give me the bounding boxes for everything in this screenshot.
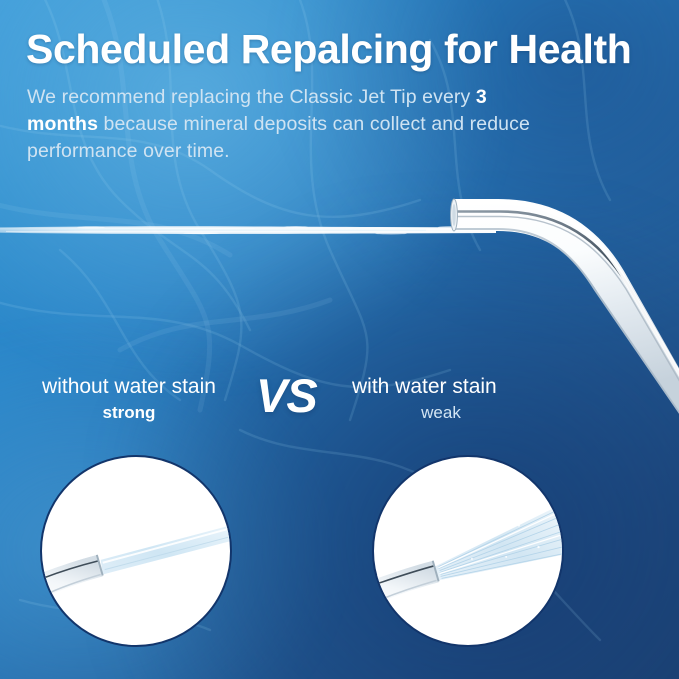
description-paragraph: We recommend replacing the Classic Jet T… (27, 84, 547, 165)
description-part-1: We recommend replacing the Classic Jet T… (27, 86, 476, 108)
comparison-label-left: without water stain strong (18, 374, 240, 425)
comparison-label-right: with water stain weak (352, 374, 574, 425)
page-title: Scheduled Repalcing for Health (26, 27, 631, 73)
stained-jet-closeup-icon (372, 455, 564, 647)
clean-jet-closeup-icon (40, 455, 232, 647)
comparison-right-subtitle: weak (352, 401, 530, 425)
description-part-2: because mineral deposits can collect and… (27, 113, 530, 162)
versus-badge: VS (256, 372, 317, 419)
comparison-left-subtitle: strong (18, 401, 240, 425)
product-marketing-poster: Scheduled Repalcing for Health We recomm… (0, 0, 679, 679)
comparison-left-title: without water stain (18, 374, 240, 400)
comparison-right-title: with water stain (352, 374, 574, 400)
